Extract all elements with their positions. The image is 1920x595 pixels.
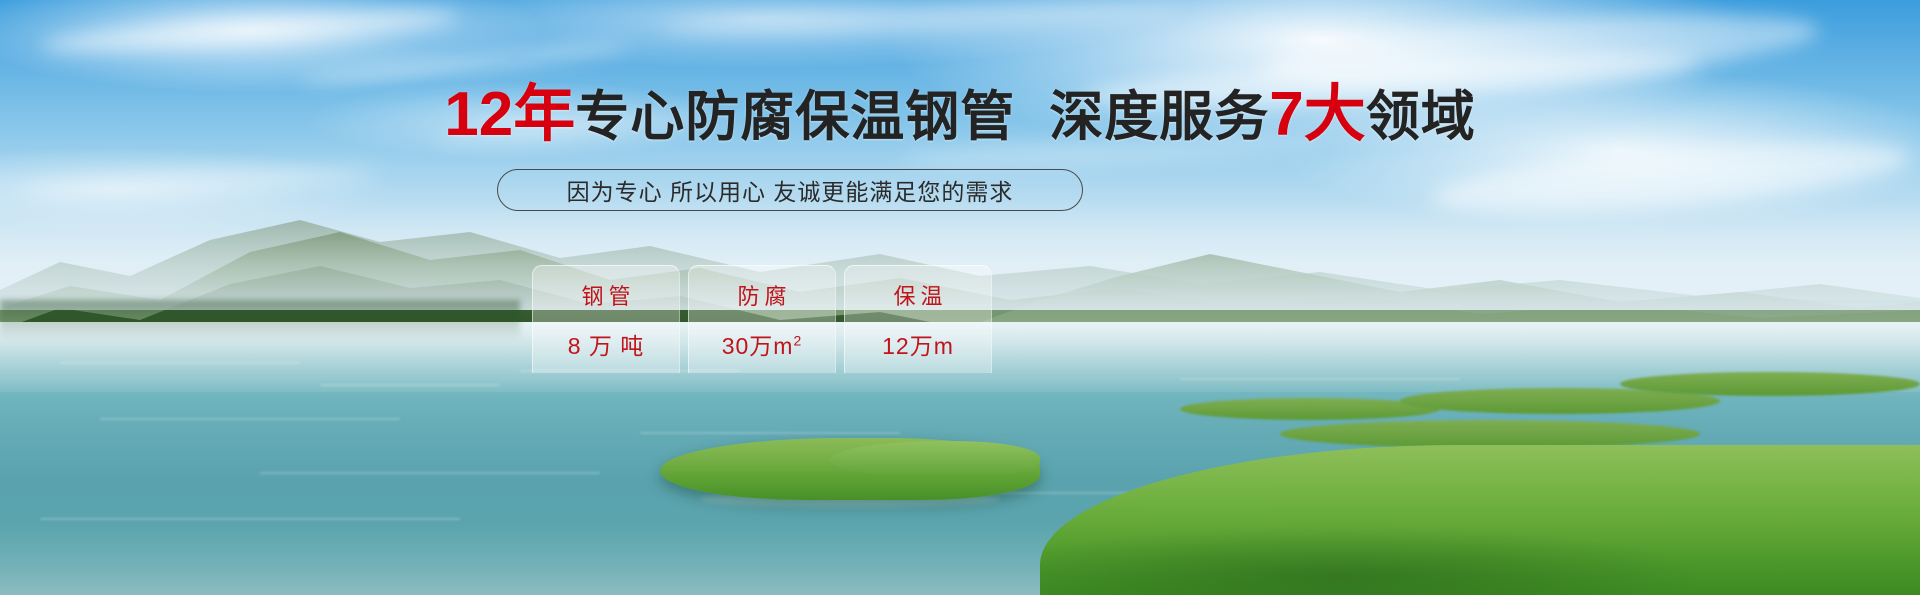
- stat-value: 8 万 吨: [568, 327, 645, 361]
- page-title: 12年专心防腐保温钢管深度服务7大领域: [0, 84, 1920, 146]
- cloud-wisp-icon: [40, 3, 461, 58]
- island-secondary: [830, 441, 1040, 475]
- stat-value: 30万m2: [722, 327, 803, 361]
- stat-card-insulation: 保温 12万m: [844, 265, 992, 373]
- stat-unit-sup: 2: [793, 332, 802, 348]
- stat-value-text: 8 万 吨: [568, 333, 645, 359]
- stat-card-steel-pipe: 钢管 8 万 吨: [532, 265, 680, 373]
- marsh-patch: [1280, 420, 1700, 448]
- subtitle-pill: 因为专心 所以用心 友诚更能满足您的需求: [497, 169, 1083, 211]
- stat-label: 防腐: [732, 279, 791, 311]
- left-shore-shadow: [0, 300, 520, 340]
- headline-years: 12年: [444, 80, 575, 149]
- stat-label: 保温: [888, 279, 947, 311]
- cloud-wisp-icon: [660, 0, 1180, 39]
- stat-value: 12万m: [882, 327, 954, 361]
- headline-fields: 领域: [1366, 87, 1476, 147]
- stat-value-text: 12万m: [882, 333, 954, 359]
- headline-service: 深度服务: [1049, 87, 1269, 147]
- stat-card-group: 钢管 8 万 吨 防腐 30万m2 保温 12万m: [532, 265, 992, 373]
- grass-strip: [0, 543, 1920, 595]
- stat-value-text: 30万m: [722, 333, 794, 359]
- subtitle-text: 因为专心 所以用心 友诚更能满足您的需求: [567, 173, 1014, 207]
- promo-banner: 12年专心防腐保温钢管深度服务7大领域 因为专心 所以用心 友诚更能满足您的需求…: [0, 0, 1920, 595]
- stat-card-anticorrosion: 防腐 30万m2: [688, 265, 836, 373]
- headline-seven: 7大: [1269, 80, 1365, 149]
- marsh-patch: [1620, 372, 1920, 396]
- stat-label: 钢管: [576, 279, 635, 311]
- headline-main: 专心防腐保温钢管: [575, 87, 1015, 147]
